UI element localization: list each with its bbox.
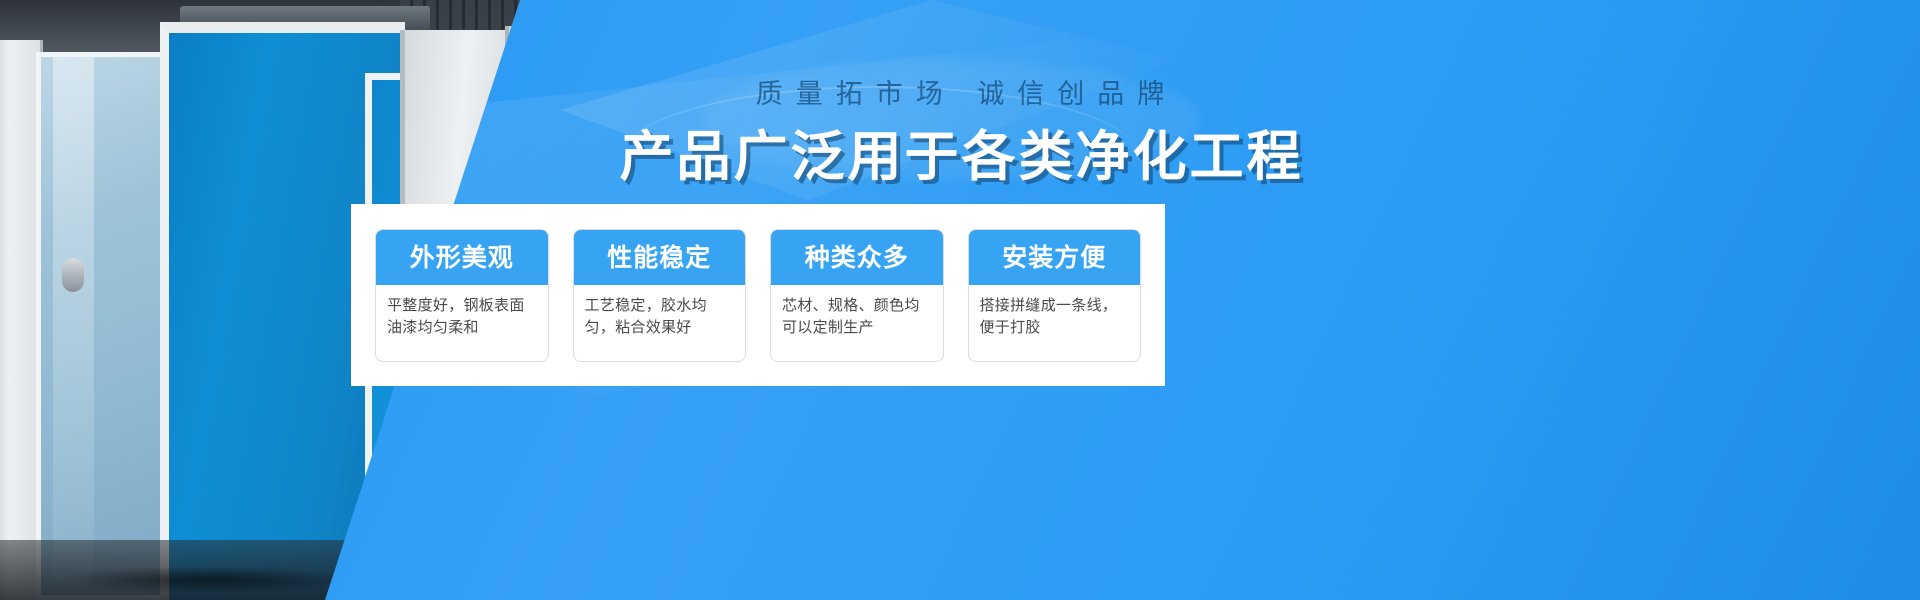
feature-card-body: 芯材、规格、颜色均可以定制生产 (771, 285, 943, 344)
feature-cards-panel: 外形美观 平整度好，钢板表面油漆均匀柔和 性能稳定 工艺稳定，胶水均匀，粘合效果… (351, 204, 1165, 386)
promo-banner: 质量拓市场 诚信创品牌 产品广泛用于各类净化工程 外形美观 平整度好，钢板表面油… (0, 0, 1920, 600)
feature-card-body: 平整度好，钢板表面油漆均匀柔和 (376, 285, 548, 344)
feature-card-body: 工艺稳定，胶水均匀，粘合效果好 (574, 285, 746, 344)
feature-card[interactable]: 外形美观 平整度好，钢板表面油漆均匀柔和 (375, 229, 549, 362)
feature-card-title: 安装方便 (968, 229, 1142, 285)
glass-panel-handle (62, 258, 84, 292)
left-floor-shadow (60, 566, 360, 594)
feature-card[interactable]: 安装方便 搭接拼缝成一条线，便于打胶 (968, 229, 1142, 362)
feature-card[interactable]: 种类众多 芯材、规格、颜色均可以定制生产 (770, 229, 944, 362)
feature-card-title: 种类众多 (770, 229, 944, 285)
feature-card[interactable]: 性能稳定 工艺稳定，胶水均匀，粘合效果好 (573, 229, 747, 362)
feature-card-body: 搭接拼缝成一条线，便于打胶 (969, 285, 1141, 344)
feature-card-title: 外形美观 (375, 229, 549, 285)
feature-card-title: 性能稳定 (573, 229, 747, 285)
cabin-glass-panel (36, 52, 166, 600)
